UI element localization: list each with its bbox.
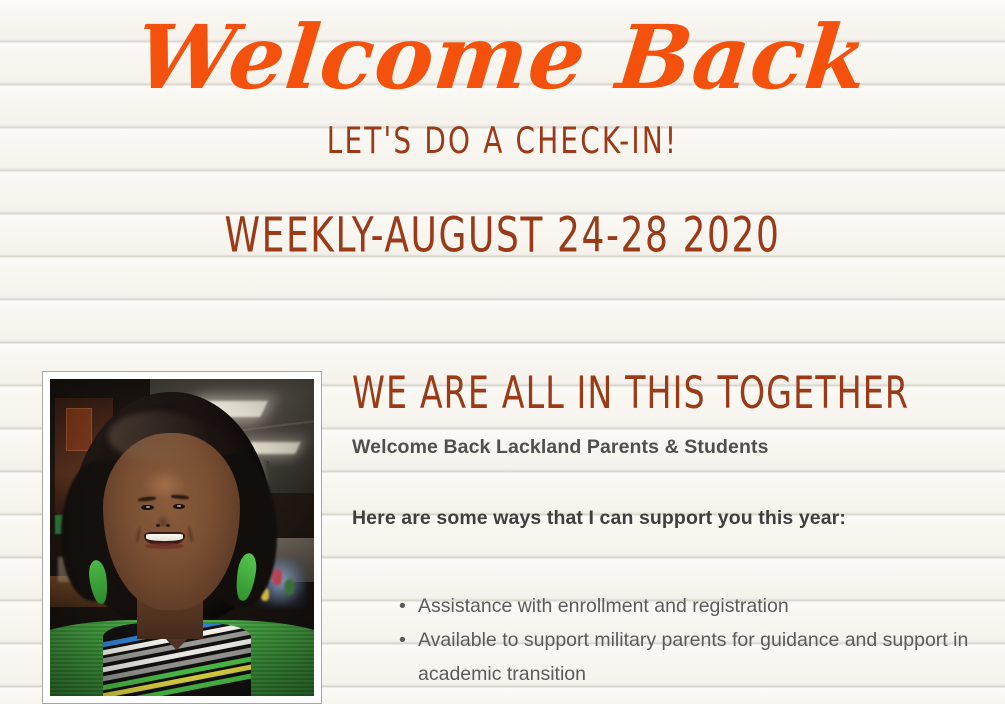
support-list: Assistance with enrollment and registrat… — [352, 531, 972, 691]
eyebrow-right — [171, 494, 189, 499]
portrait-photo-frame — [42, 371, 322, 704]
eye-left — [141, 505, 153, 511]
wall-sign — [66, 408, 92, 451]
list-item: Assistance with enrollment and registrat… — [399, 589, 972, 623]
dateline: WEEKLY-AUGUST 24-28 2020 — [0, 153, 1005, 261]
background-decor — [285, 579, 294, 595]
eyebrow-left — [138, 496, 156, 502]
nostril-right — [166, 524, 170, 527]
list-item: Available to support military parents fo… — [399, 623, 972, 691]
eye-right — [173, 504, 185, 510]
teeth — [146, 534, 184, 541]
header-block: Welcome Back LET'S DO A CHECK-IN! WEEKLY… — [0, 0, 1005, 243]
section-heading: WE ARE ALL IN THIS TOGETHER — [352, 371, 972, 418]
lower-lip — [145, 543, 183, 549]
chin — [148, 550, 181, 564]
newsletter-page: Welcome Back LET'S DO A CHECK-IN! WEEKLY… — [0, 0, 1005, 704]
support-intro: Here are some ways that I can support yo… — [352, 460, 972, 531]
body-text-column: WE ARE ALL IN THIS TOGETHER Welcome Back… — [352, 371, 972, 691]
background-decor — [272, 569, 283, 585]
page-title: Welcome Back — [0, 0, 1005, 107]
portrait-photo — [50, 379, 314, 696]
